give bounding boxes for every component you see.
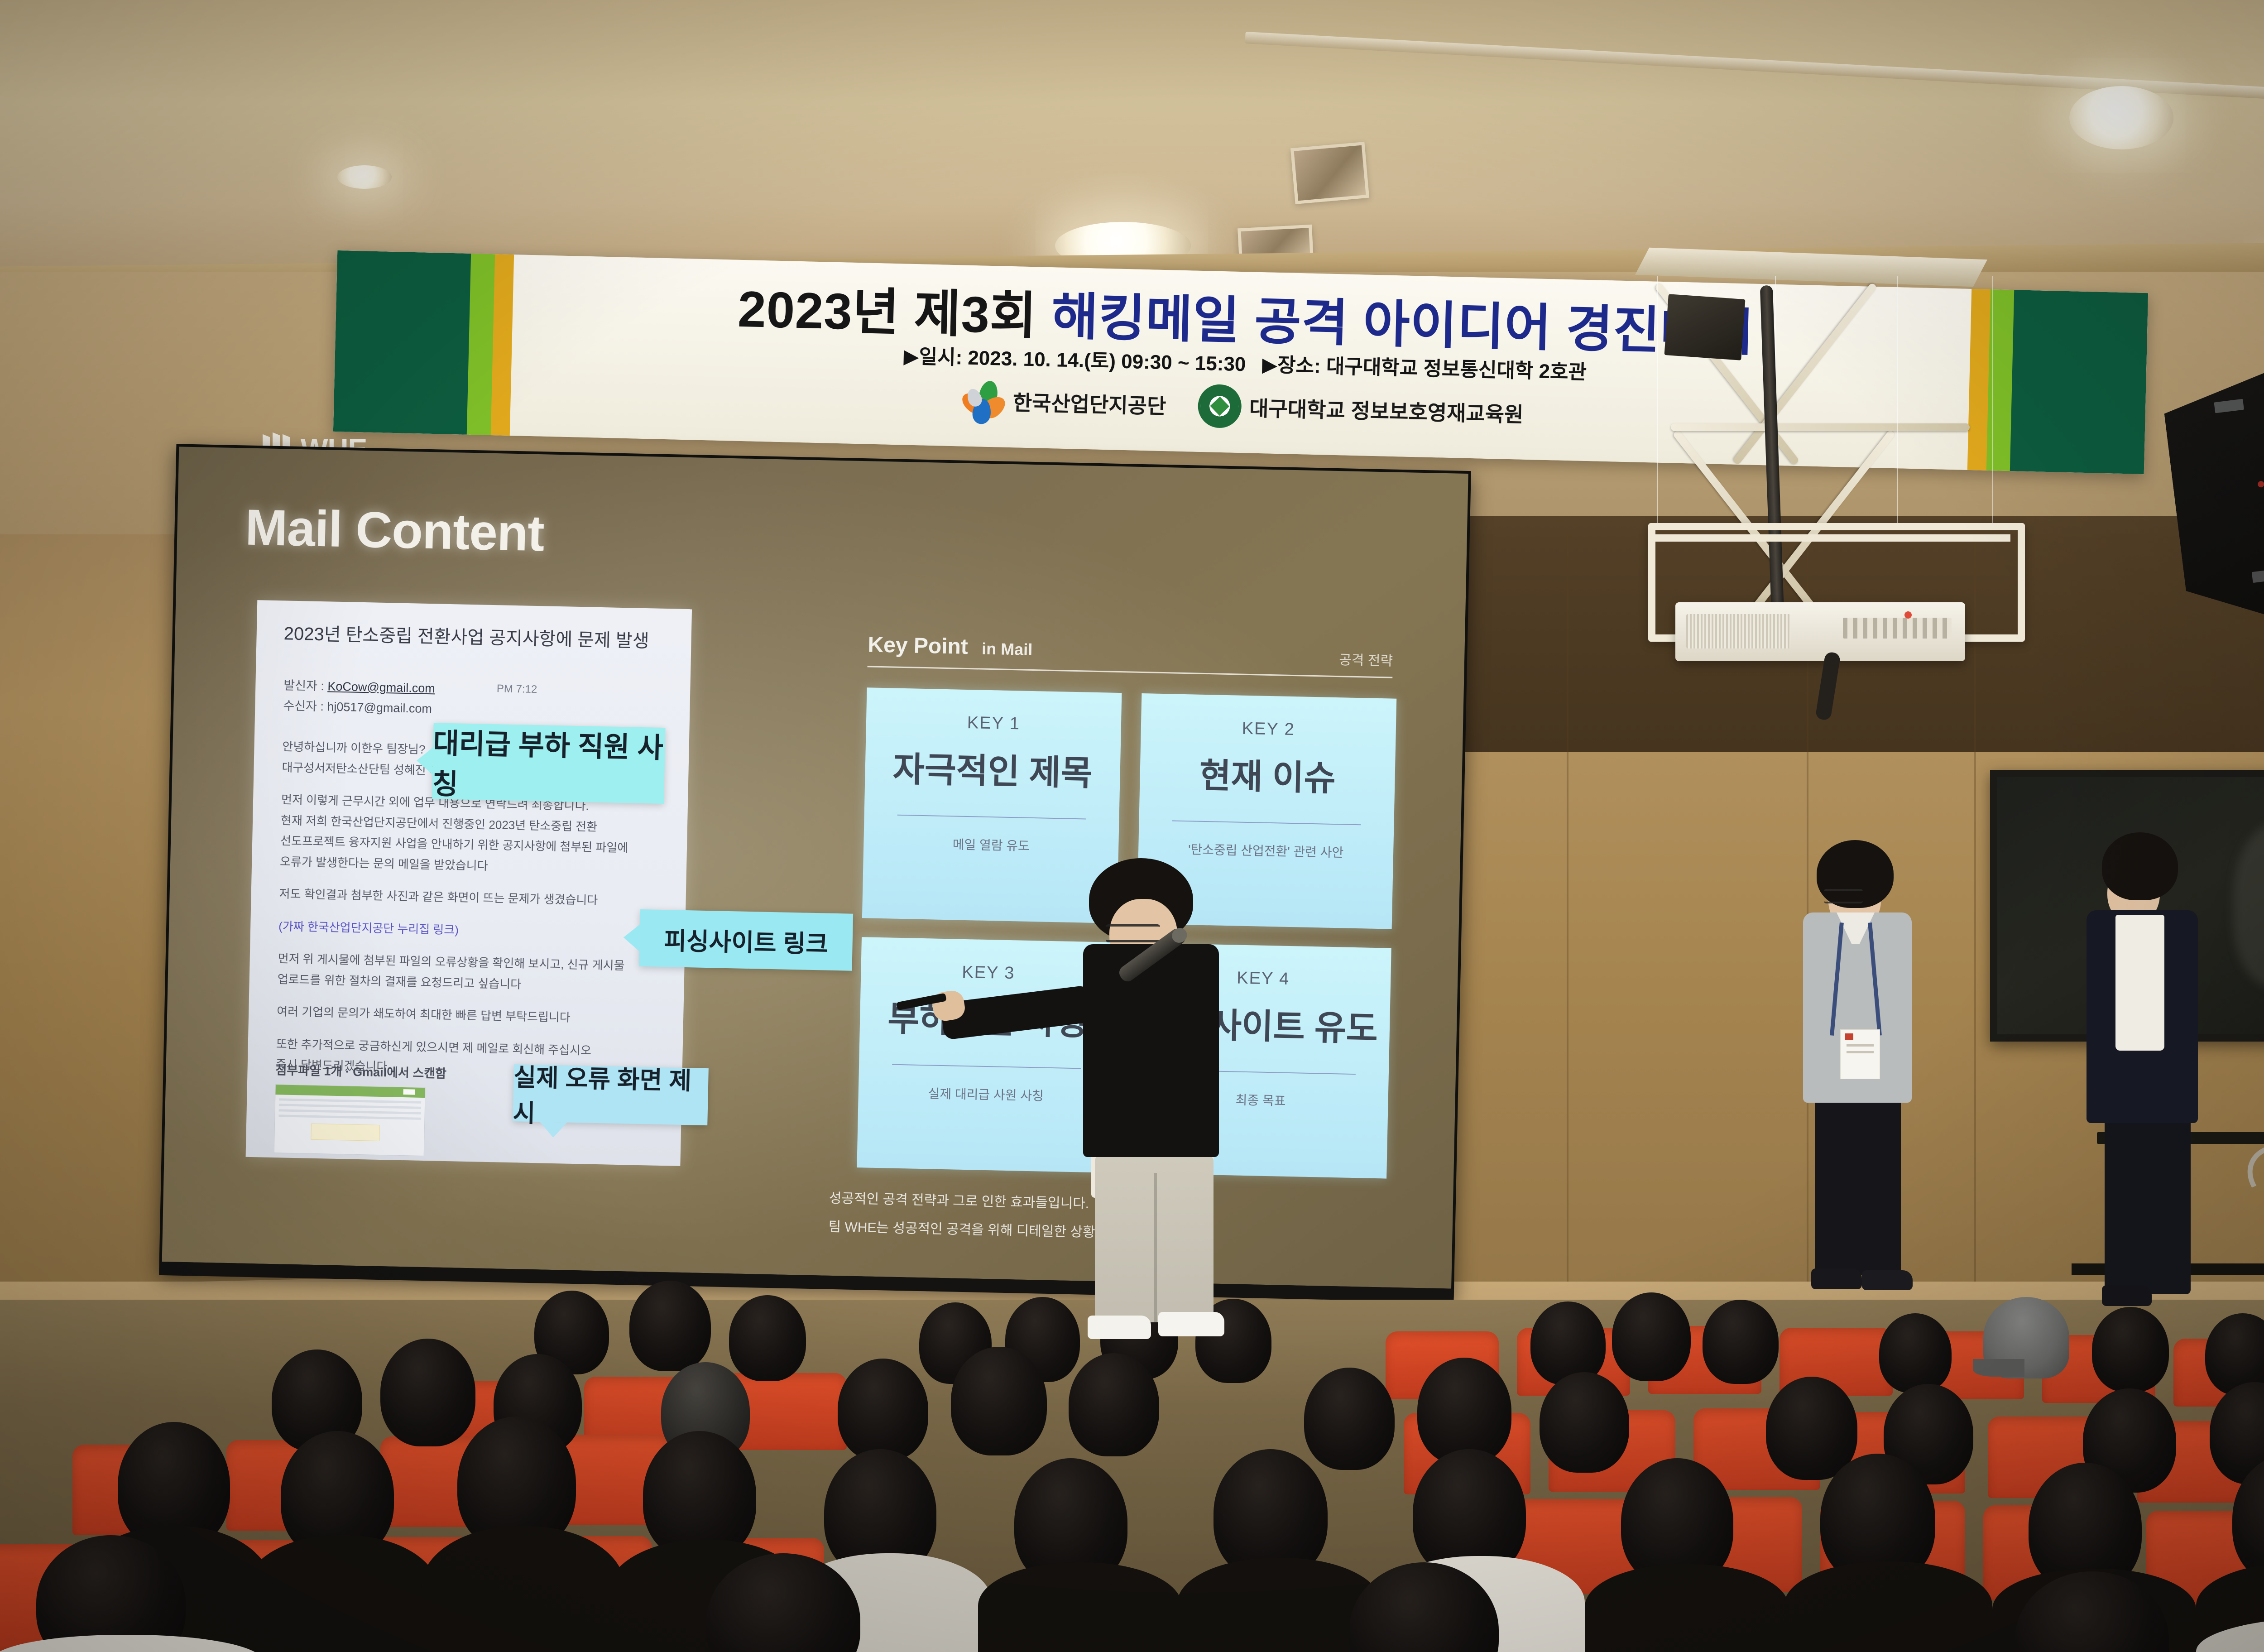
audience-head: [1766, 1377, 1857, 1480]
callout-phishing-link: 피싱사이트 링크: [639, 909, 854, 971]
audience-head: [380, 1339, 475, 1446]
audience-head: [951, 1347, 1047, 1455]
team-member-right: [2078, 832, 2214, 1312]
banner-green-band: [2008, 290, 2148, 474]
key-point-tag: 공격 전략: [1339, 648, 1393, 669]
key-card-number: KEY 3: [962, 963, 1015, 983]
projector-vent-grille: [1686, 614, 1790, 648]
organization-kicox: 한국산업단지공단: [964, 380, 1167, 425]
key-card-number: KEY 2: [1242, 719, 1295, 740]
key-point-header: 공격 전략 Key Point in Mail: [868, 632, 1393, 669]
mail-header: 발신자 : KoCow@gmail.com PM 7:12 수신자 : hj05…: [283, 675, 673, 724]
presenter-shoe: [1158, 1312, 1224, 1336]
glasses-icon: [1106, 924, 1160, 942]
speaker-led: [2258, 481, 2264, 488]
key-card-title: 현재 이슈: [1199, 748, 1336, 800]
member-pants: [1815, 1094, 1901, 1275]
mail-paragraph: 저도 확인결과 첨부한 사진과 같은 화면이 뜨는 문제가 생겼습니다: [279, 884, 673, 912]
kicox-flower-logo-icon: [964, 380, 1005, 421]
safety-wire: [1897, 276, 1898, 530]
ceiling-light: [2069, 86, 2173, 149]
organization-name: 대구대학교 정보보호영재교육원: [1249, 392, 1524, 428]
mail-to-label: 수신자 :: [283, 699, 324, 713]
audience-head-with-cap: [1983, 1297, 2069, 1378]
glasses-icon: [1824, 889, 1863, 903]
audience-head: [629, 1281, 711, 1371]
member-shoe: [2102, 1285, 2152, 1306]
auditorium-scene: 2023년 제3회 해킹메일 공격 아이디어 경진대회 ▶일시: 2023. 1…: [0, 0, 2264, 1652]
member-pants: [2105, 1104, 2191, 1294]
mail-attachment-label: 첨부파일 1개 · Gmail에서 스캔함: [275, 1060, 446, 1081]
audience-head: [1304, 1368, 1395, 1470]
audience-head: [1069, 1353, 1159, 1456]
audience-shoulders: [421, 1526, 625, 1652]
member-shoe: [1811, 1268, 1862, 1289]
speaker-badge: [2252, 568, 2264, 583]
projection-screen: Mail Content 2023년 탄소중립 전환사업 공지사항에 문제 발생…: [159, 444, 1471, 1299]
mail-from-address: KoCow@gmail.com: [327, 679, 435, 695]
key-point-title-suffix: in Mail: [982, 639, 1033, 659]
safety-wire: [1992, 276, 1993, 530]
audience-head: [1703, 1300, 1779, 1384]
key-point-title: Key Point: [868, 632, 968, 659]
audience-head: [1540, 1372, 1629, 1473]
audience-head: [1530, 1301, 1606, 1385]
audience-seating: [0, 1300, 2264, 1652]
key-card-rule: [897, 815, 1086, 820]
presenter-shoe: [1088, 1316, 1151, 1339]
attachment-warning-box: [311, 1124, 380, 1141]
speaker-badge: [2214, 399, 2244, 413]
banner-green-band: [333, 250, 473, 435]
screen-surface: Mail Content 2023년 탄소중립 전환사업 공지사항에 문제 발생…: [162, 447, 1468, 1288]
member-hair: [2102, 832, 2178, 900]
ceiling-speaker-box: [1664, 294, 1745, 360]
mail-from-label: 발신자 :: [283, 678, 324, 693]
mail-phishing-link[interactable]: (가짜 한국산업단지공단 누리집 링크): [278, 916, 673, 945]
callout-impersonation: 대리급 부하 직원 사칭: [432, 723, 665, 804]
key-card-rule: [1172, 820, 1361, 825]
slide-title: Mail Content: [245, 498, 545, 562]
projector: [1675, 602, 1965, 661]
audience-shoulders: [978, 1562, 1182, 1652]
banner-title-plain: 2023년 제3회: [737, 281, 1052, 345]
audience-head: [2092, 1307, 2169, 1392]
mail-subject: 2023년 탄소중립 전환사업 공지사항에 문제 발생: [283, 619, 673, 653]
audience-head: [1879, 1313, 1952, 1393]
attachment-green-header: [275, 1085, 425, 1098]
audience-head: [1417, 1358, 1511, 1465]
mail-to-address: hj0517@gmail.com: [327, 700, 432, 716]
daegu-university-seal-logo-icon: [1197, 384, 1242, 428]
audience-shoulders: [1585, 1564, 1789, 1652]
mail-time: PM 7:12: [497, 680, 537, 698]
projector-power-led: [1904, 611, 1912, 619]
name-badge: [1840, 1029, 1880, 1079]
audience-shoulders: [1784, 1561, 1992, 1652]
key-card-number: KEY 4: [1237, 969, 1290, 989]
mail-paragraph: 먼저 위 게시물에 첨부된 파일의 오류상황을 확인해 보시고, 신규 게시물 …: [277, 948, 672, 998]
team-member-left: [1793, 840, 1929, 1306]
ceiling-vent: [1290, 142, 1369, 204]
key-card-number: KEY 1: [967, 713, 1020, 734]
ceiling-light: [337, 165, 392, 189]
audience-shoulders: [245, 1535, 439, 1652]
audience-head: [729, 1295, 806, 1381]
mail-attachment-thumbnail[interactable]: [274, 1084, 426, 1156]
audience-head: [838, 1359, 928, 1461]
key-card-title: 자극적인 제목: [892, 741, 1093, 795]
safety-wire: [1657, 276, 1658, 530]
key-card-subtitle: 실제 대리급 사원 사칭: [928, 1084, 1044, 1104]
key-card-subtitle: 메일 열람 유도: [952, 835, 1030, 855]
presenter: [1046, 858, 1236, 1352]
member-tee: [2115, 915, 2164, 1051]
callout-error-screen: 실제 오류 화면 제시: [513, 1064, 709, 1125]
attachment-rows: [278, 1098, 421, 1123]
member-shoe: [1862, 1270, 1913, 1290]
mail-paragraph: 여러 기업의 문의가 쇄도하여 최대한 빠른 답변 부탁드립니다: [277, 1001, 671, 1030]
organization-name: 한국산업단지공단: [1012, 386, 1166, 420]
audience-head: [1612, 1292, 1691, 1381]
organization-daegu: 대구대학교 정보보호영재교육원: [1197, 384, 1524, 435]
scissor-cross-bar: [1671, 423, 1970, 431]
key-card-subtitle: 최종 목표: [1235, 1090, 1286, 1109]
projector-ports: [1843, 618, 1952, 639]
presenter-pants: [1095, 1155, 1214, 1322]
